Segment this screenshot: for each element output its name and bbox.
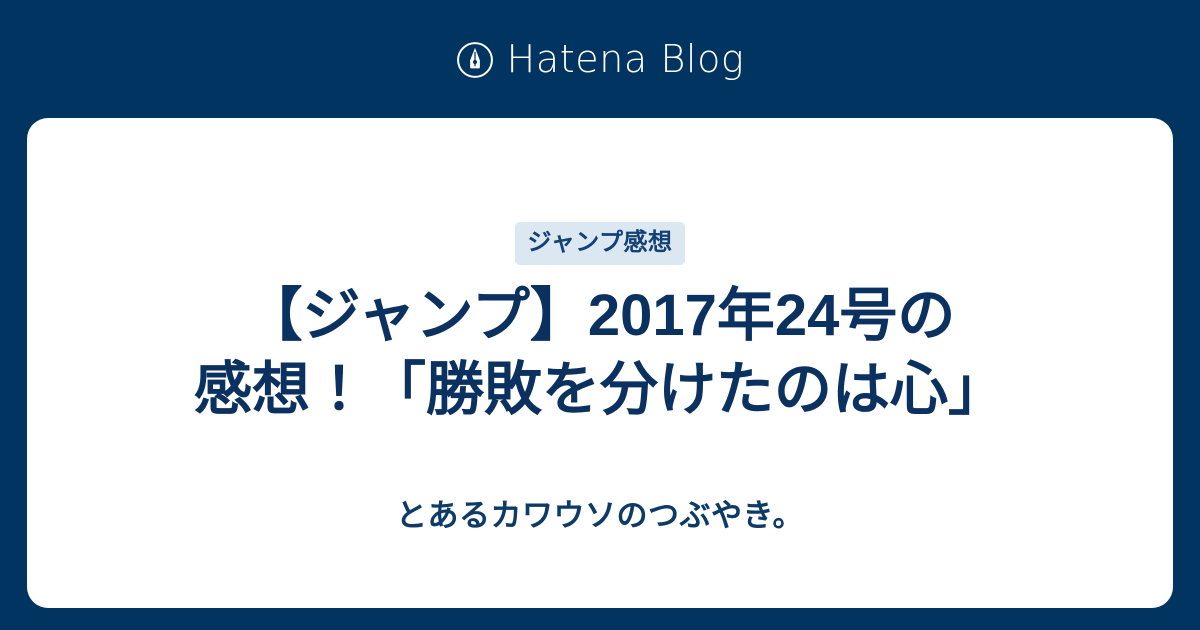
blog-title[interactable]: とあるカワウソのつぶやき。: [396, 500, 804, 531]
brand-name-label: Hatena Blog: [507, 40, 745, 78]
entry-title-line-2: 感想！「勝敗を分けたのは心」: [194, 353, 1006, 427]
hatena-pen-nib-icon: [456, 41, 494, 79]
category-tag-row: ジャンプ感想: [515, 222, 684, 265]
entry-title-line-1: 【ジャンプ】2017年24号の: [194, 279, 1006, 353]
entry-title: 【ジャンプ】2017年24号の 感想！「勝敗を分けたのは心」: [194, 279, 1006, 426]
entry-card: ジャンプ感想 【ジャンプ】2017年24号の 感想！「勝敗を分けたのは心」 とあ…: [27, 118, 1173, 608]
hatena-blog-brand-bar: Hatena Blog: [0, 0, 1200, 118]
category-tag[interactable]: ジャンプ感想: [515, 222, 684, 265]
entry-card-inner: ジャンプ感想 【ジャンプ】2017年24号の 感想！「勝敗を分けたのは心」 とあ…: [27, 118, 1173, 531]
ogp-card-root: Hatena Blog ジャンプ感想 【ジャンプ】2017年24号の 感想！「勝…: [0, 0, 1200, 630]
